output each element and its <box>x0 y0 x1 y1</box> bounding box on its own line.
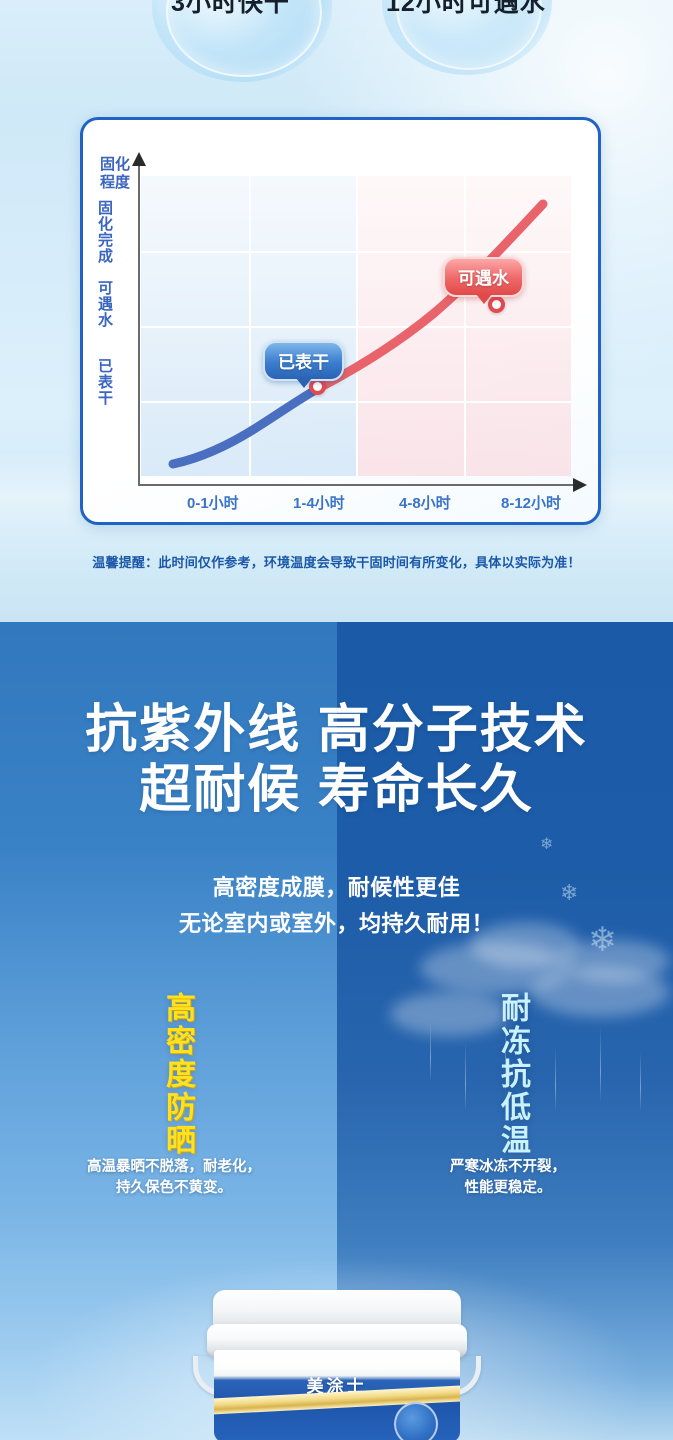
curing-curve <box>141 176 571 476</box>
chart-y-axis-title: 固化程度 <box>94 156 136 192</box>
cloud-icon <box>560 940 670 982</box>
subhead-line-1: 高密度成膜，耐候性更佳 <box>0 870 673 906</box>
y-tick-label-surface-dry: 已表干 <box>95 358 115 406</box>
callout-surface-dry: 已表干 <box>263 341 344 381</box>
chart-x-tick-labels: 0-1小时 1-4小时 4-8小时 8-12小时 <box>141 492 581 518</box>
feature-caption-freeze-resistant: 严寒冰冻不开裂， 性能更稳定。 <box>368 1157 648 1199</box>
rain-streak <box>555 1047 556 1112</box>
x-tick-label: 4-8小时 <box>399 492 451 513</box>
caption-line-2: 性能更稳定。 <box>368 1178 648 1199</box>
cut-off-title-water-resistant: 12小时可遇水 <box>386 0 546 19</box>
x-tick-label: 1-4小时 <box>293 492 345 513</box>
cut-off-title-fast-dry: 3小时快干 <box>171 0 290 19</box>
callout-water-ok: 可遇水 <box>443 257 524 297</box>
rain-streak <box>640 1052 641 1112</box>
product-paint-bucket: 美涂士 <box>207 1290 467 1440</box>
chart-y-axis <box>138 164 140 486</box>
chart-x-axis <box>138 484 575 486</box>
subhead-line-2: 无论室内或室外，均持久耐用！ <box>0 906 673 942</box>
feature-caption-sun-protection: 高温暴晒不脱落，耐老化， 持久保色不黄变。 <box>34 1157 314 1199</box>
caption-line-2: 持久保色不黄变。 <box>34 1178 314 1199</box>
headline-line-1: 抗紫外线 高分子技术 <box>85 701 587 759</box>
x-tick-label: 0-1小时 <box>187 492 239 513</box>
caption-line-1: 严寒冰冻不开裂， <box>368 1157 648 1178</box>
curing-chart-card: 固化程度 固化完成 可遇水 已表干 0-1小时 1-4小时 4-8小时 8-12… <box>80 117 601 525</box>
y-tick-label-cured: 固化完成 <box>95 200 115 264</box>
feature-label-sun-protection: 高密度防晒 <box>160 992 194 1157</box>
curve-segment-surface-dry <box>173 388 319 464</box>
y-tick-label-water-ok: 可遇水 <box>95 280 115 328</box>
product-detail-page: 3小时快干 12小时可遇水 固化程度 固化完成 可遇水 已表干 0-1小时 1-… <box>0 0 673 1440</box>
reminder-note: 温馨提醒：此时间仅作参考，环境温度会导致干固时间有所变化，具体以实际为准！ <box>0 552 673 571</box>
x-tick-label: 8-12小时 <box>501 492 561 513</box>
rain-streak <box>465 1042 466 1112</box>
product-seal-icon <box>394 1402 438 1440</box>
headline-line-2: 超耐候 寿命长久 <box>0 760 673 820</box>
cloud-icon <box>390 992 510 1036</box>
bucket-body: 美涂士 <box>214 1350 460 1440</box>
rain-streak <box>600 1027 601 1102</box>
rain-streak <box>430 1022 431 1082</box>
feature-subhead: 高密度成膜，耐候性更佳 无论室内或室外，均持久耐用！ <box>0 870 673 942</box>
caption-line-1: 高温暴晒不脱落，耐老化， <box>34 1157 314 1178</box>
feature-label-freeze-resistant: 耐冻抗低温 <box>495 992 529 1157</box>
feature-headline: 抗紫外线 高分子技术 超耐候 寿命长久 <box>0 700 673 820</box>
